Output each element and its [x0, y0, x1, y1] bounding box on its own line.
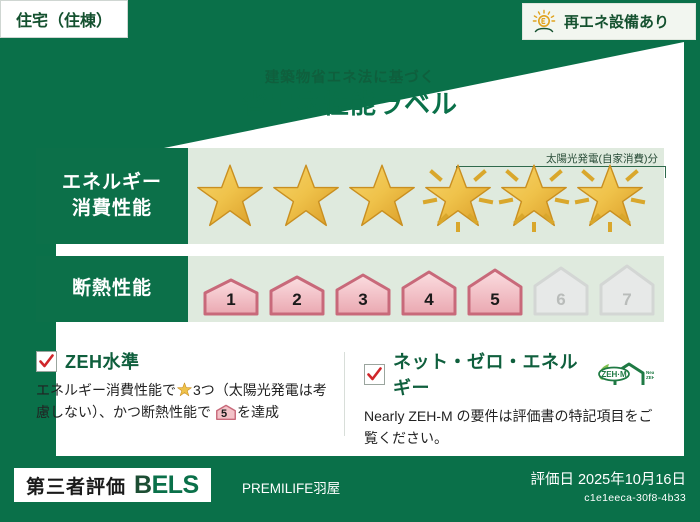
star-filled — [192, 148, 268, 244]
star-solar — [420, 148, 496, 244]
insulation-level-number: 5 — [462, 290, 528, 310]
zeh-standard-header: ZEH水準 — [36, 348, 340, 374]
zeh-standard-section: ZEH水準 エネルギー消費性能で3つ（太陽光発電は考慮しない）、かつ断熱性能で5… — [36, 348, 350, 440]
criteria-sections: ZEH水準 エネルギー消費性能で3つ（太陽光発電は考慮しない）、かつ断熱性能で5… — [36, 348, 664, 440]
inline-house-badge: 5 — [213, 404, 235, 420]
footer-bar: 第三者評価 BELS PREMILIFE羽屋 評価日 2025年10月16日 c… — [0, 460, 700, 522]
checkbox-zeh-standard[interactable] — [36, 351, 57, 372]
insulation-performance-label: 断熱性能 — [36, 256, 188, 322]
insulation-level-number: 6 — [528, 290, 594, 310]
net-zero-energy-text: Nearly ZEH-M の要件は評価書の特記項目をご覧ください。 — [364, 406, 654, 449]
insulation-level-item: 3 — [330, 271, 396, 322]
building-type-label: 住宅（住棟） — [16, 7, 112, 31]
insulation-level-list: 1 2 3 4 — [198, 256, 664, 322]
star-solar — [572, 148, 648, 244]
renewable-energy-badge[interactable]: 再エネ設備あり — [522, 3, 696, 40]
evaluation-id: c1e1eeca-30f8-4b33 — [530, 492, 686, 504]
insulation-level-item: 1 — [198, 276, 264, 322]
insulation-level-item: 4 — [396, 268, 462, 322]
insulation-level-item: 5 — [462, 266, 528, 322]
energy-performance-label: エネルギー 消費性能 — [36, 148, 188, 244]
svg-text:ZEH·M: ZEH·M — [601, 370, 627, 379]
insulation-level-item: 2 — [264, 273, 330, 322]
net-zero-energy-title: ネット・ゼロ・エネルギー — [393, 348, 582, 400]
net-zero-energy-section: ネット・ゼロ・エネルギー ZEH·M Nearly ZEH-M Nearly Z… — [350, 348, 664, 440]
building-type-tab[interactable]: 住宅（住棟） — [0, 0, 128, 38]
energy-performance-row: エネルギー 消費性能 太陽光発電(自家消費)分 — [36, 148, 664, 244]
star-filled — [344, 148, 420, 244]
inline-star-icon — [177, 382, 192, 397]
zeh-standard-text: エネルギー消費性能で3つ（太陽光発電は考慮しない）、かつ断熱性能で5を達成 — [36, 380, 340, 423]
solar-sun-icon — [531, 9, 557, 35]
check-icon — [366, 366, 383, 383]
evaluation-date: 評価日 2025年10月16日 — [530, 468, 686, 489]
insulation-level-number: 7 — [594, 290, 660, 310]
star-rating — [192, 148, 664, 244]
label-canvas: 住宅（住棟） 再エネ設備あり 建築物省エネ法に基づく 省エ — [0, 0, 700, 522]
insulation-level-number: 2 — [264, 290, 330, 310]
insulation-level-number: 1 — [198, 290, 264, 310]
svg-text:ZEH-M: ZEH-M — [646, 375, 654, 380]
project-name: PREMILIFE羽屋 — [242, 477, 340, 497]
insulation-performance-row: 断熱性能 1 2 — [36, 256, 664, 322]
insulation-levels-area: 1 2 3 4 — [188, 256, 664, 322]
zeh-m-logo-icon: ZEH·M Nearly ZEH-M — [590, 361, 654, 387]
energy-stars-area: 太陽光発電(自家消費)分 — [188, 148, 664, 244]
zeh-standard-title: ZEH水準 — [65, 348, 140, 374]
renewable-energy-label: 再エネ設備あり — [564, 11, 669, 32]
insulation-level-number: 4 — [396, 290, 462, 310]
sparkle-marks — [420, 156, 496, 236]
star-solar — [496, 148, 572, 244]
check-icon — [38, 353, 55, 370]
label-title: 省エネ性能ラベル — [0, 84, 700, 121]
insulation-level-number: 3 — [330, 290, 396, 310]
star-filled — [268, 148, 344, 244]
section-divider — [344, 352, 345, 436]
checkbox-net-zero-energy[interactable] — [364, 364, 385, 385]
insulation-level-item: 6 — [528, 264, 594, 322]
bels-en-label: BELS — [134, 471, 199, 500]
bels-logo: 第三者評価 BELS — [14, 468, 211, 502]
net-zero-energy-header: ネット・ゼロ・エネルギー ZEH·M Nearly ZEH-M — [364, 348, 654, 400]
bels-jp-label: 第三者評価 — [26, 472, 126, 499]
insulation-level-item: 7 — [594, 262, 660, 322]
svg-text:Nearly: Nearly — [646, 370, 654, 375]
evaluation-info: 評価日 2025年10月16日 c1e1eeca-30f8-4b33 — [530, 468, 686, 504]
